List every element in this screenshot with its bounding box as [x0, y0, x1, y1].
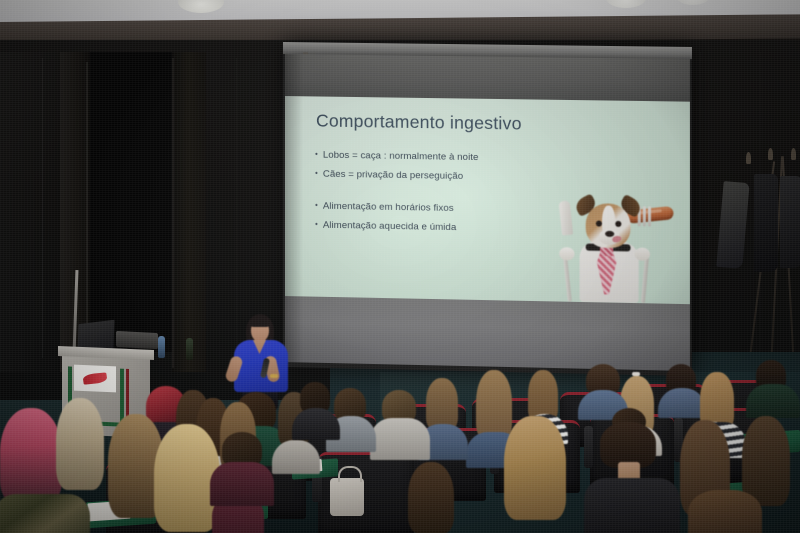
audience-hair [742, 416, 790, 506]
audience-hair [426, 378, 458, 430]
ceiling-light-icon [606, 0, 646, 8]
handbag-handle [338, 466, 362, 482]
dog-paw [559, 247, 574, 260]
dog-eye [596, 221, 602, 227]
audience-shirt [584, 478, 680, 533]
projection-screen: Comportamento ingestivo Lobos = caça : n… [283, 42, 692, 376]
speaker [226, 314, 300, 404]
fork-handle [641, 257, 649, 304]
wall-panel [0, 52, 62, 372]
flag-cloth [716, 181, 749, 269]
fork-tines-icon [638, 206, 651, 237]
audience-shirt [272, 440, 320, 474]
audience-shirt [210, 462, 274, 506]
dog-eye [615, 221, 621, 227]
pillar-edge [172, 58, 174, 368]
water-bottle [158, 336, 165, 358]
institution-logo [74, 365, 116, 393]
flag-group [700, 130, 800, 370]
ceiling-light-icon [676, 0, 710, 5]
audience-hair [408, 462, 454, 533]
flag-finial-icon [791, 148, 796, 160]
knife-handle [563, 255, 572, 302]
flag-finial-icon [746, 152, 751, 164]
audience-jacket [0, 494, 90, 533]
audience-hair [0, 408, 62, 504]
slide-title: Comportamento ingestivo [316, 110, 522, 134]
wall-recess [88, 52, 176, 352]
water-bottle [186, 338, 193, 360]
flag-cloth [780, 176, 800, 268]
slide-bullet: Cães = privação da perseguição [315, 170, 598, 184]
pillar-edge [86, 62, 88, 362]
screen-bottom-margin [285, 296, 690, 371]
side-table [116, 331, 158, 349]
wall-seam [236, 58, 237, 358]
wall-pillar [172, 52, 206, 372]
screen-top-margin [285, 54, 690, 102]
dog-with-cutlery-photo [541, 188, 674, 304]
slide-bullet: Lobos = caça : normalmente à noite [315, 150, 598, 164]
wall-seam [42, 58, 43, 358]
dog-necktie-knot [600, 247, 613, 256]
handbag [330, 478, 364, 516]
dog-paw [635, 247, 650, 260]
logo-mark-icon [82, 372, 107, 384]
audience-hair [504, 416, 566, 520]
auditorium-photo: Comportamento ingestivo Lobos = caça : n… [0, 0, 800, 533]
audience-hair [688, 490, 762, 533]
flag-cloth [754, 174, 778, 272]
audience-shirt [746, 384, 800, 418]
knife-blade-icon [558, 200, 573, 235]
audience-shirt [292, 408, 340, 440]
projected-slide: Comportamento ingestivo Lobos = caça : n… [285, 96, 690, 304]
speaker-wristwatch [270, 374, 278, 378]
audience-hair [56, 398, 104, 490]
flag-finial-icon [768, 148, 773, 160]
audience-shirt [370, 418, 430, 460]
speaker-fringe [250, 317, 270, 327]
ceiling-light-icon [178, 0, 224, 13]
seat-arm [584, 426, 593, 468]
audience-hair [476, 370, 512, 440]
